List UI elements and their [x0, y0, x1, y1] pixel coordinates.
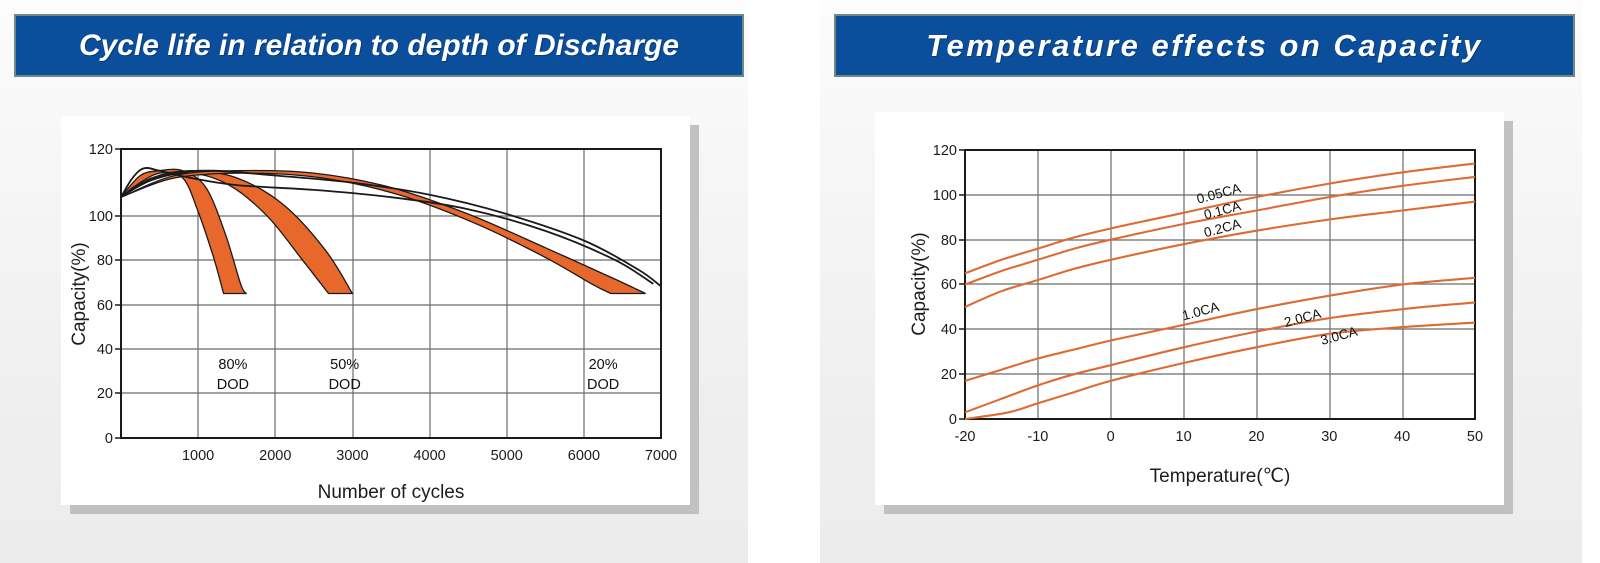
svg-text:40: 40: [1394, 429, 1410, 445]
svg-text:80%: 80%: [218, 357, 247, 373]
svg-text:120: 120: [933, 143, 957, 159]
chart-temperature-capacity: 0.05CA 0.1CA 0.2CA 1.0CA 2.0CA 3.0CA 120…: [875, 112, 1504, 505]
svg-text:0: 0: [1107, 429, 1115, 445]
svg-text:3000: 3000: [336, 448, 368, 464]
svg-text:DOD: DOD: [329, 377, 361, 393]
chart-card-cycle-life: 120 100 80 60 40 20 0: [61, 116, 690, 505]
svg-text:100: 100: [933, 188, 957, 204]
svg-text:20: 20: [97, 386, 113, 402]
svg-text:120: 120: [89, 142, 113, 158]
panel-title-bar-cycle-life: Cycle life in relation to depth of Disch…: [14, 14, 744, 77]
svg-text:20%: 20%: [589, 357, 618, 373]
svg-text:DOD: DOD: [587, 377, 619, 393]
x-axis-ticks-cycle: 1000 2000 3000 4000 5000 6000 7000: [182, 448, 677, 464]
svg-text:7000: 7000: [645, 448, 677, 464]
y-axis-title-cycle: Capacity(%): [69, 242, 90, 345]
svg-text:100: 100: [89, 209, 113, 225]
svg-text:2000: 2000: [259, 448, 291, 464]
annotation-80-dod: 80% DOD: [217, 357, 249, 393]
svg-text:0: 0: [105, 431, 113, 447]
curve-label-1-0ca: 1.0CA: [1180, 299, 1220, 323]
svg-text:30: 30: [1321, 429, 1337, 445]
svg-text:60: 60: [941, 277, 957, 293]
annotation-20-dod: 20% DOD: [587, 357, 619, 393]
slide-board: Cycle life in relation to depth of Disch…: [0, 0, 1600, 563]
svg-text:40: 40: [97, 342, 113, 358]
svg-text:50%: 50%: [330, 357, 359, 373]
x-axis-title-temperature: Temperature(℃): [1150, 466, 1291, 487]
svg-text:20: 20: [941, 367, 957, 383]
curve-label-2-0ca: 2.0CA: [1282, 306, 1322, 330]
svg-text:80: 80: [941, 233, 957, 249]
panel-title-bar-temperature: Temperature effects on Capacity: [834, 14, 1575, 77]
svg-text:20: 20: [1248, 429, 1264, 445]
svg-text:-10: -10: [1027, 429, 1048, 445]
curve-labels-temperature: 0.05CA 0.1CA 0.2CA 1.0CA 2.0CA 3.0CA: [1180, 181, 1359, 348]
svg-text:10: 10: [1176, 429, 1192, 445]
chart-card-temperature: 0.05CA 0.1CA 0.2CA 1.0CA 2.0CA 3.0CA 120…: [875, 112, 1504, 505]
svg-text:1000: 1000: [182, 448, 214, 464]
page-title-cycle-life: Cycle life in relation to depth of Disch…: [79, 29, 679, 63]
svg-text:6000: 6000: [568, 448, 600, 464]
annotation-50-dod: 50% DOD: [329, 357, 361, 393]
curve-label-3-0ca: 3.0CA: [1319, 324, 1359, 348]
band-80-dod: [121, 169, 246, 293]
panel-temperature-capacity: Temperature effects on Capacity: [820, 0, 1582, 563]
y-axis-title-temperature: Capacity(%): [909, 232, 930, 335]
page-title-temperature: Temperature effects on Capacity: [926, 28, 1482, 64]
panel-cycle-life: Cycle life in relation to depth of Disch…: [0, 0, 748, 563]
svg-text:50: 50: [1467, 429, 1483, 445]
curve-3-0ca: [965, 323, 1475, 419]
svg-text:-20: -20: [955, 429, 976, 445]
curves-temperature: [965, 164, 1475, 420]
svg-text:5000: 5000: [491, 448, 523, 464]
x-axis-ticks-temperature: -20 -10 0 10 20 30 40 50: [955, 429, 1484, 445]
chart-cycle-life: 120 100 80 60 40 20 0: [61, 116, 690, 505]
y-axis-ticks-cycle: 120 100 80 60 40 20 0: [89, 142, 113, 447]
svg-text:0: 0: [949, 412, 957, 428]
svg-text:DOD: DOD: [217, 377, 249, 393]
svg-text:4000: 4000: [413, 448, 445, 464]
svg-text:80: 80: [97, 253, 113, 269]
y-axis-ticks-temperature: 120 100 80 60 40 20 0: [933, 143, 957, 428]
x-axis-title-cycle: Number of cycles: [318, 482, 465, 503]
svg-text:40: 40: [941, 322, 957, 338]
svg-text:60: 60: [97, 298, 113, 314]
